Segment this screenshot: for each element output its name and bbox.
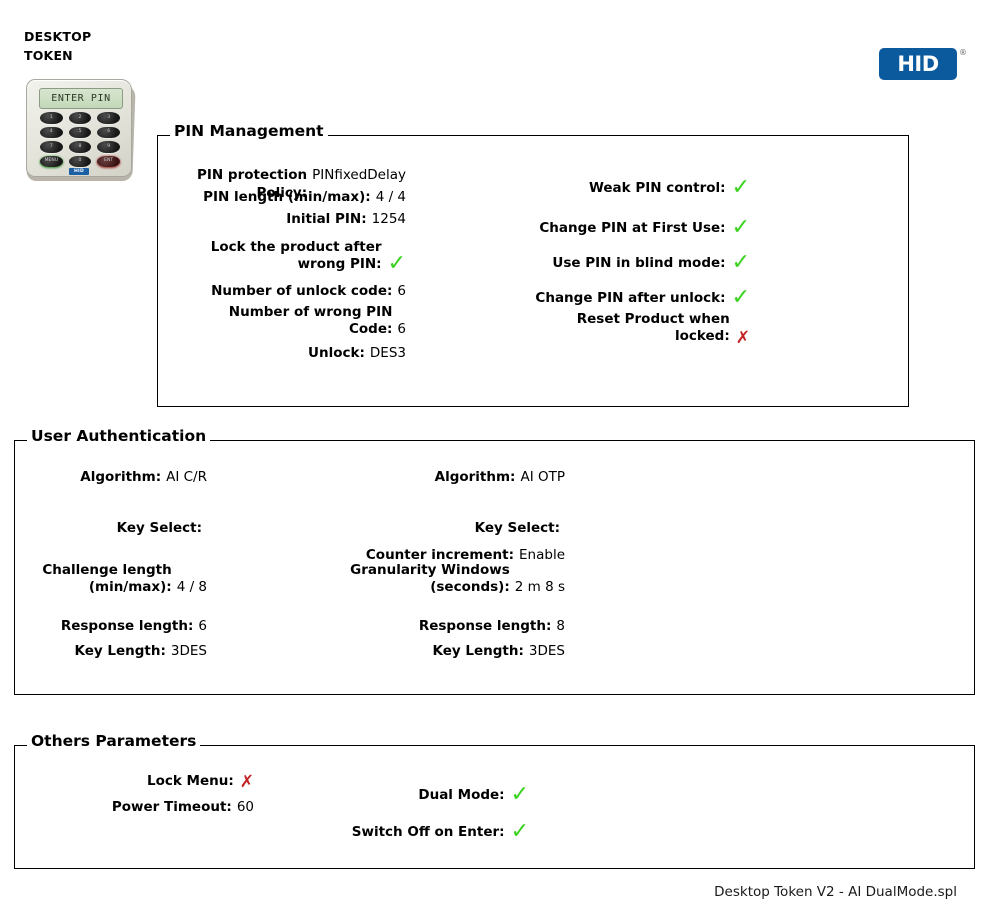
field-label: Key Length: [433, 642, 524, 660]
desktop-token-image: ENTER PIN 1 2 3 4 5 6 7 8 9 MENU 0 ENT H… [24, 77, 136, 183]
field-auth1-response-length: Response length: 6 [15, 617, 207, 635]
field-initial-pin: Initial PIN: 1254 [158, 210, 406, 228]
panel-user-authentication: User Authentication Algorithm: AI C/R Ke… [14, 440, 975, 695]
field-label: Response length: [419, 617, 552, 635]
token-key: 5 [69, 127, 92, 139]
panel-others-parameters-legend: Others Parameters [27, 734, 200, 750]
field-use-pin-in-blind-mode: Use PIN in blind mode: ✓ [510, 250, 750, 272]
field-unlock: Unlock: DES3 [158, 344, 406, 362]
token-key: 0 [69, 156, 92, 168]
footer-filename: Desktop Token V2 - AI DualMode.spl [714, 884, 957, 900]
token-key-menu: MENU [40, 156, 63, 168]
field-dual-mode: Dual Mode: ✓ [290, 782, 529, 804]
field-value: AI C/R [166, 468, 207, 486]
field-value: 2 m 8 s [515, 578, 565, 596]
field-label: PIN length (min/max): [203, 188, 371, 206]
field-value: PINfixedDelay [312, 166, 406, 184]
field-label: Lock the product after wrong PIN: [211, 239, 382, 273]
check-icon: ✓ [511, 784, 529, 806]
field-reset-product-when-locked: Reset Product when locked: ✗ [510, 311, 750, 345]
field-label: Power Timeout: [112, 798, 232, 816]
field-change-pin-after-unlock: Change PIN after unlock: ✓ [510, 285, 750, 307]
field-auth1-key-select: Key Select: [15, 519, 207, 537]
field-label: Granularity Windows (seconds): [350, 562, 510, 596]
cross-icon: ✗ [240, 774, 254, 791]
field-value: 6 [198, 617, 207, 635]
token-lcd-screen: ENTER PIN [39, 88, 123, 109]
token-key-enter: ENT [97, 156, 120, 168]
field-label: Reset Product when locked: [577, 311, 730, 345]
token-key: 9 [97, 141, 120, 153]
field-label: Algorithm: [80, 468, 161, 486]
field-auth2-key-length: Key Length: 3DES [325, 642, 565, 660]
token-key: 6 [97, 127, 120, 139]
field-label: Change PIN at First Use: [539, 219, 725, 237]
field-label: Key Select: [475, 519, 560, 537]
panel-others-parameters: Others Parameters Lock Menu: ✗ Power Tim… [14, 745, 975, 869]
check-icon: ✓ [732, 287, 750, 309]
field-auth1-challenge-length: Challenge length (min/max): 4 / 8 [15, 562, 207, 596]
token-keypad: 1 2 3 4 5 6 7 8 9 MENU 0 ENT [40, 112, 120, 167]
field-label: Dual Mode: [418, 786, 504, 804]
field-value: AI OTP [520, 468, 565, 486]
field-label: Key Select: [117, 519, 202, 537]
field-value: 4 / 8 [177, 578, 207, 596]
field-value: 3DES [529, 642, 565, 660]
field-lock-menu: Lock Menu: ✗ [15, 772, 254, 790]
field-value: 8 [556, 617, 565, 635]
token-key: 3 [97, 112, 120, 124]
cross-icon: ✗ [736, 330, 750, 347]
token-key: 2 [69, 112, 92, 124]
field-auth1-key-length: Key Length: 3DES [15, 642, 207, 660]
token-key: 7 [40, 141, 63, 153]
token-key: 4 [40, 127, 63, 139]
field-number-of-wrong-pin-code: Number of wrong PIN Code: 6 [158, 304, 406, 338]
registered-trademark-icon: ® [959, 48, 967, 57]
field-label: Lock Menu: [147, 772, 234, 790]
field-label: Initial PIN: [286, 210, 366, 228]
field-label: Unlock: [308, 344, 365, 362]
field-label: Response length: [61, 617, 194, 635]
field-label: Algorithm: [435, 468, 516, 486]
field-auth2-algorithm: Algorithm: AI OTP [325, 468, 565, 486]
field-weak-pin-control: Weak PIN control: ✓ [510, 175, 750, 197]
field-value: 3DES [171, 642, 207, 660]
check-icon: ✓ [732, 177, 750, 199]
field-number-of-unlock-code: Number of unlock code: 6 [158, 282, 406, 300]
token-body: ENTER PIN 1 2 3 4 5 6 7 8 9 MENU 0 ENT H… [26, 79, 132, 177]
field-label: Number of unlock code: [211, 282, 392, 300]
field-label: Switch Off on Enter: [352, 823, 505, 841]
field-label: Use PIN in blind mode: [552, 254, 725, 272]
field-value: 60 [237, 798, 254, 816]
field-label: Challenge length (min/max): [42, 562, 171, 596]
field-switch-off-on-enter: Switch Off on Enter: ✓ [290, 819, 529, 841]
token-key: 1 [40, 112, 63, 124]
check-icon: ✓ [511, 821, 529, 843]
field-value: DES3 [370, 344, 406, 362]
field-label: Number of wrong PIN Code: [229, 304, 393, 338]
check-icon: ✓ [732, 252, 750, 274]
field-auth2-granularity-windows: Granularity Windows (seconds): 2 m 8 s [325, 562, 565, 596]
field-label: Weak PIN control: [589, 179, 726, 197]
field-label: Change PIN after unlock: [535, 289, 725, 307]
field-value: 1254 [372, 210, 406, 228]
hid-logo: HID ® [879, 48, 957, 80]
field-pin-length: PIN length (min/max): 4 / 4 [158, 188, 406, 206]
check-icon: ✓ [732, 217, 750, 239]
panel-pin-management-legend: PIN Management [170, 124, 328, 140]
field-value: 6 [397, 282, 406, 300]
field-power-timeout: Power Timeout: 60 [15, 798, 254, 816]
check-icon: ✓ [388, 253, 406, 275]
token-hid-badge: HID [69, 168, 89, 175]
panel-user-authentication-legend: User Authentication [27, 429, 210, 445]
token-lcd-text: ENTER PIN [51, 93, 111, 104]
field-value: 4 / 4 [376, 188, 406, 206]
field-change-pin-at-first-use: Change PIN at First Use: ✓ [510, 215, 750, 237]
token-key: 8 [69, 141, 92, 153]
page-title: DESKTOP TOKEN [24, 27, 91, 65]
panel-pin-management: PIN Management PIN protection Policy: PI… [157, 135, 909, 407]
field-value: 6 [397, 320, 406, 338]
field-auth2-key-select: Key Select: [325, 519, 565, 537]
field-auth2-response-length: Response length: 8 [325, 617, 565, 635]
hid-logo-text: HID [879, 48, 957, 80]
field-auth1-algorithm: Algorithm: AI C/R [15, 468, 207, 486]
field-label: Key Length: [75, 642, 166, 660]
field-lock-product-after-wrong-pin: Lock the product after wrong PIN: ✓ [158, 239, 406, 273]
